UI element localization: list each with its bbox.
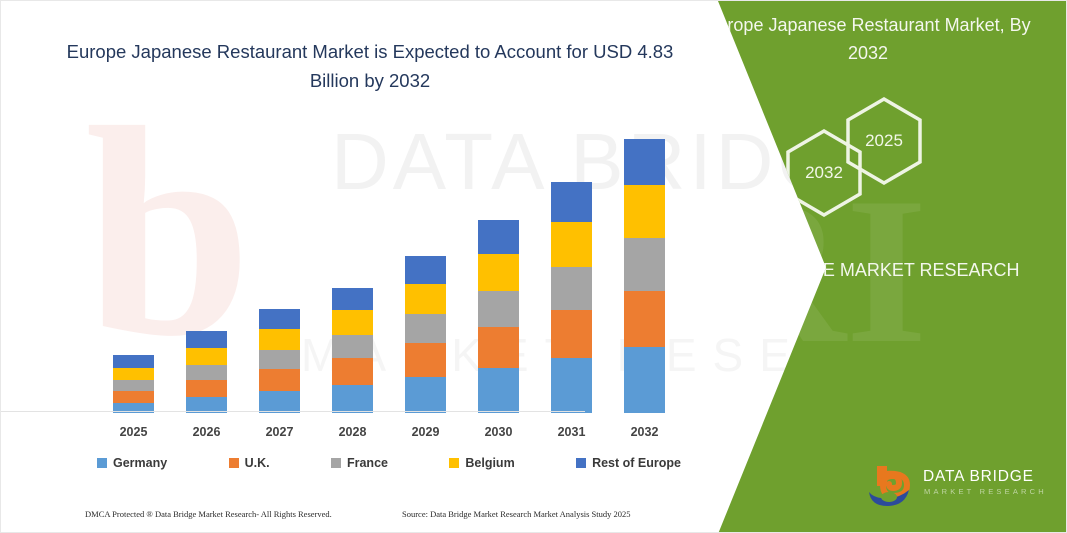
- stacked-bar-2026[interactable]: [186, 331, 227, 413]
- chart-x-axis-labels: 20252026202720282029203020312032: [97, 425, 681, 439]
- x-axis-label-2027: 2027: [243, 425, 316, 439]
- legend-label: U.K.: [245, 456, 270, 470]
- footer-source: Source: Data Bridge Market Research Mark…: [402, 509, 631, 519]
- bar-segment-germany[interactable]: [478, 368, 519, 413]
- stacked-bar-2029[interactable]: [405, 256, 446, 413]
- legend-item-belgium[interactable]: Belgium: [449, 456, 514, 470]
- green-panel-brand: DATA BRIDGE MARKET RESEARCH: [698, 256, 1038, 284]
- bar-segment-belgium[interactable]: [332, 310, 373, 335]
- x-axis-label-2032: 2032: [608, 425, 681, 439]
- infographic-root: b DATA BRIDGE MARKET RESEARCH Europe Jap…: [0, 0, 1067, 533]
- legend-label: Belgium: [465, 456, 514, 470]
- bar-segment-belgium[interactable]: [405, 284, 446, 315]
- bar-segment-rest-of-europe[interactable]: [186, 331, 227, 348]
- bar-segment-france[interactable]: [332, 335, 373, 358]
- bar-segment-u-k-[interactable]: [405, 343, 446, 377]
- stacked-bar-2030[interactable]: [478, 220, 519, 413]
- footer-copyright: DMCA Protected ® Data Bridge Market Rese…: [85, 509, 332, 519]
- bar-segment-u-k-[interactable]: [113, 391, 154, 403]
- bar-segment-rest-of-europe[interactable]: [624, 139, 665, 185]
- legend-label: Germany: [113, 456, 167, 470]
- bar-segment-france[interactable]: [186, 365, 227, 380]
- stacked-bar-2031[interactable]: [551, 182, 592, 413]
- legend-swatch-icon: [331, 458, 341, 468]
- bar-segment-u-k-[interactable]: [259, 369, 300, 391]
- bar-segment-u-k-[interactable]: [624, 291, 665, 347]
- bar-slot-2025: [97, 123, 170, 413]
- bar-segment-germany[interactable]: [405, 377, 446, 413]
- stacked-bar-2025[interactable]: [113, 355, 154, 413]
- x-axis-label-2029: 2029: [389, 425, 462, 439]
- bar-slot-2027: [243, 123, 316, 413]
- green-side-panel: RI Europe Japanese Restaurant Market, By…: [666, 1, 1066, 533]
- bar-segment-belgium[interactable]: [186, 348, 227, 365]
- stacked-bar-2028[interactable]: [332, 288, 373, 414]
- bar-segment-germany[interactable]: [259, 391, 300, 413]
- chart-baseline: [1, 411, 585, 412]
- bar-slot-2030: [462, 123, 535, 413]
- x-axis-label-2025: 2025: [97, 425, 170, 439]
- bar-slot-2032: [608, 123, 681, 413]
- bar-segment-rest-of-europe[interactable]: [113, 355, 154, 368]
- bar-segment-belgium[interactable]: [624, 185, 665, 238]
- bar-segment-germany[interactable]: [551, 358, 592, 413]
- x-axis-label-2026: 2026: [170, 425, 243, 439]
- x-axis-label-2030: 2030: [462, 425, 535, 439]
- bar-segment-rest-of-europe[interactable]: [405, 256, 446, 284]
- bar-segment-germany[interactable]: [624, 347, 665, 413]
- bar-segment-belgium[interactable]: [551, 222, 592, 267]
- bar-segment-rest-of-europe[interactable]: [478, 220, 519, 254]
- bar-segment-france[interactable]: [624, 238, 665, 292]
- hexagon-2025-label: 2025: [844, 96, 924, 186]
- stacked-bar-chart: [97, 121, 681, 413]
- legend-label: Rest of Europe: [592, 456, 681, 470]
- chart-plot-area: [97, 123, 681, 413]
- bar-segment-france[interactable]: [405, 314, 446, 343]
- bar-slot-2029: [389, 123, 462, 413]
- bar-segment-u-k-[interactable]: [186, 380, 227, 397]
- hexagon-2025: 2025: [844, 96, 924, 186]
- legend-item-rest-of-europe[interactable]: Rest of Europe: [576, 456, 681, 470]
- legend-item-u-k-[interactable]: U.K.: [229, 456, 270, 470]
- legend-label: France: [347, 456, 388, 470]
- x-axis-label-2028: 2028: [316, 425, 389, 439]
- legend-item-germany[interactable]: Germany: [97, 456, 167, 470]
- legend-item-france[interactable]: France: [331, 456, 388, 470]
- bar-segment-belgium[interactable]: [259, 329, 300, 350]
- logo-title: DATA BRIDGE: [923, 468, 1034, 486]
- bar-segment-france[interactable]: [259, 350, 300, 369]
- bar-segment-germany[interactable]: [332, 385, 373, 413]
- page-title: Europe Japanese Restaurant Market is Exp…: [65, 37, 675, 95]
- bar-segment-rest-of-europe[interactable]: [551, 182, 592, 222]
- legend-swatch-icon: [97, 458, 107, 468]
- bar-segment-belgium[interactable]: [113, 368, 154, 380]
- hexagon-group: 2032 2025: [776, 96, 1006, 221]
- bar-segment-france[interactable]: [551, 267, 592, 311]
- bar-segment-u-k-[interactable]: [332, 358, 373, 385]
- data-bridge-logo: DATA BRIDGE MARKET RESEARCH: [867, 464, 1047, 512]
- bar-segment-u-k-[interactable]: [478, 327, 519, 368]
- legend-swatch-icon: [449, 458, 459, 468]
- stacked-bar-2027[interactable]: [259, 309, 300, 413]
- bar-segment-rest-of-europe[interactable]: [332, 288, 373, 311]
- bar-slot-2026: [170, 123, 243, 413]
- legend-swatch-icon: [576, 458, 586, 468]
- bar-slot-2028: [316, 123, 389, 413]
- chart-legend: GermanyU.K.FranceBelgiumRest of Europe: [97, 456, 681, 470]
- stacked-bar-2032[interactable]: [624, 139, 665, 413]
- logo-subtitle: MARKET RESEARCH: [924, 487, 1047, 496]
- bar-slot-2031: [535, 123, 608, 413]
- data-bridge-mark-icon: [867, 464, 921, 508]
- bar-segment-france[interactable]: [478, 291, 519, 327]
- bar-segment-rest-of-europe[interactable]: [259, 309, 300, 329]
- bar-segment-belgium[interactable]: [478, 254, 519, 292]
- bar-segment-france[interactable]: [113, 380, 154, 391]
- x-axis-label-2031: 2031: [535, 425, 608, 439]
- legend-swatch-icon: [229, 458, 239, 468]
- green-panel-title: Europe Japanese Restaurant Market, By 20…: [698, 11, 1038, 67]
- bar-segment-u-k-[interactable]: [551, 310, 592, 358]
